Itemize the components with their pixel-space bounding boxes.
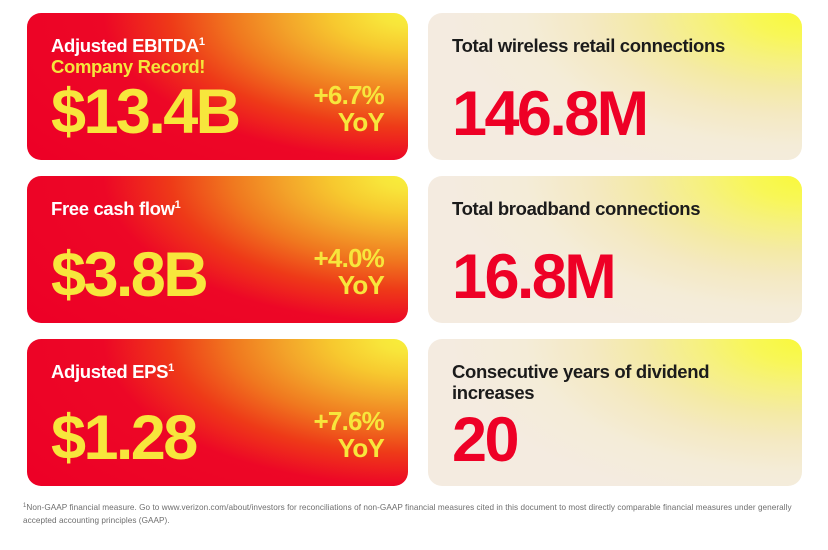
metric-value: 16.8M (452, 248, 778, 307)
metric-yoy-change: +7.6% YoY (314, 408, 384, 468)
metrics-grid: Adjusted EBITDA1 Company Record! $13.4B … (27, 13, 802, 486)
metric-yoy-percent: +4.0% (314, 245, 384, 272)
highlights-board: Adjusted EBITDA1 Company Record! $13.4B … (0, 0, 828, 550)
metric-yoy-change: +6.7% YoY (314, 82, 384, 142)
footnote-marker: 1 (175, 199, 181, 211)
footnote-text: Non-GAAP financial measure. Go to www.ve… (23, 503, 792, 525)
metric-yoy-percent: +7.6% (314, 408, 384, 435)
metric-yoy-change: +4.0% YoY (314, 245, 384, 305)
metric-yoy-period: YoY (314, 109, 384, 136)
metric-yoy-period: YoY (314, 272, 384, 299)
metric-value: $3.8B (51, 247, 206, 305)
metric-label: Adjusted EBITDA1 (51, 35, 384, 56)
metric-value-row: $3.8B +4.0% YoY (51, 245, 384, 305)
metric-card-adjusted-ebitda: Adjusted EBITDA1 Company Record! $13.4B … (27, 13, 408, 160)
metric-label: Adjusted EPS1 (51, 361, 384, 382)
metric-card-adjusted-eps: Adjusted EPS1 $1.28 +7.6% YoY (27, 339, 408, 486)
metric-card-total-broadband-connections: Total broadband connections 16.8M (428, 176, 802, 323)
metric-yoy-period: YoY (314, 435, 384, 462)
metric-value: $1.28 (51, 410, 196, 468)
footnote-marker: 1 (168, 362, 174, 374)
metric-card-free-cash-flow: Free cash flow1 $3.8B +4.0% YoY (27, 176, 408, 323)
metric-value: $13.4B (51, 84, 239, 142)
metric-label: Total wireless retail connections (452, 35, 778, 56)
metric-yoy-percent: +6.7% (314, 82, 384, 109)
metric-label: Consecutive years of dividend increases (452, 361, 778, 403)
metric-label-text: Free cash flow (51, 198, 175, 219)
metric-sublabel: Company Record! (51, 56, 384, 77)
metric-value: 146.8M (452, 85, 778, 144)
metric-card-total-wireless-retail-connections: Total wireless retail connections 146.8M (428, 13, 802, 160)
footnote: 1Non-GAAP financial measure. Go to www.v… (23, 502, 809, 527)
metric-label: Free cash flow1 (51, 198, 384, 219)
metric-label-text: Adjusted EBITDA (51, 35, 199, 56)
metric-value-row: $1.28 +7.6% YoY (51, 408, 384, 468)
metric-value: 20 (452, 411, 778, 470)
metric-label: Total broadband connections (452, 198, 778, 219)
metric-card-consecutive-years-dividend-increases: Consecutive years of dividend increases … (428, 339, 802, 486)
metric-label-text: Adjusted EPS (51, 361, 168, 382)
footnote-marker: 1 (199, 36, 205, 48)
metric-value-row: $13.4B +6.7% YoY (51, 82, 384, 142)
